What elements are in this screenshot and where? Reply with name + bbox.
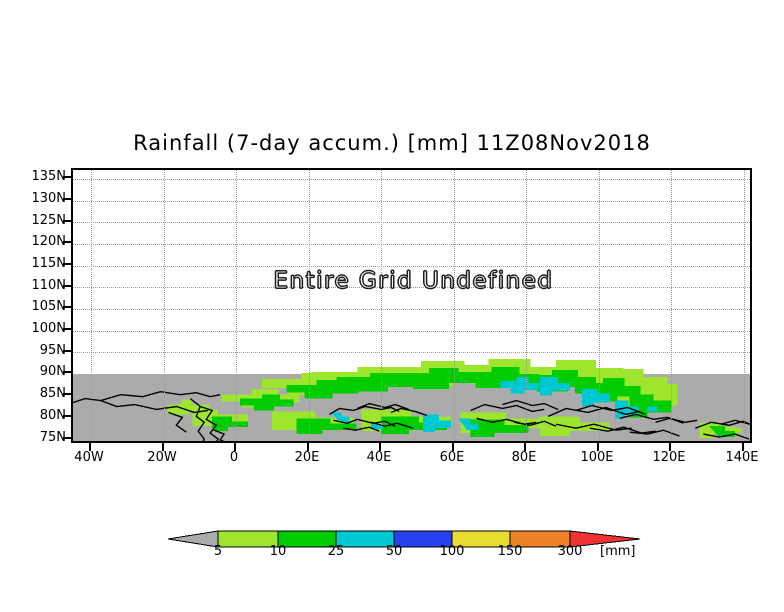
colorbar-tick-label: 25 bbox=[306, 544, 366, 559]
colorbar-tick-label: 150 bbox=[480, 544, 540, 559]
x-axis-label: 20E bbox=[272, 450, 342, 465]
gridline-horizontal bbox=[73, 179, 750, 180]
gridline-horizontal bbox=[73, 244, 750, 245]
gridline-vertical bbox=[744, 170, 745, 441]
gridline-horizontal bbox=[73, 222, 750, 223]
x-axis-label: 140E bbox=[707, 450, 777, 465]
gridline-vertical bbox=[236, 170, 237, 441]
gridline-vertical bbox=[91, 170, 92, 441]
y-axis-label: 100N bbox=[6, 322, 66, 335]
y-axis-label: 125N bbox=[6, 214, 66, 227]
x-axis-label: 40E bbox=[344, 450, 414, 465]
colorbar-tick-label: 50 bbox=[364, 544, 424, 559]
y-axis-label: 130N bbox=[6, 192, 66, 205]
x-axis-label: 40W bbox=[54, 450, 124, 465]
gridline-horizontal bbox=[73, 287, 750, 288]
y-axis-label: 85N bbox=[6, 387, 66, 400]
x-axis-label: 100E bbox=[562, 450, 632, 465]
x-axis-label: 80E bbox=[489, 450, 559, 465]
y-axis-label: 95N bbox=[6, 344, 66, 357]
y-axis-label: 80N bbox=[6, 409, 66, 422]
gridline-vertical bbox=[164, 170, 165, 441]
y-axis-label: 120N bbox=[6, 235, 66, 248]
y-axis-label: 110N bbox=[6, 279, 66, 292]
x-axis-label: 120E bbox=[634, 450, 704, 465]
y-axis-label: 135N bbox=[6, 170, 66, 183]
colorbar-tick-label: 10 bbox=[248, 544, 308, 559]
y-axis-label: 90N bbox=[6, 365, 66, 378]
colorbar-tick-label: 5 bbox=[188, 544, 248, 559]
map-plot-area: Entire Grid Undefined bbox=[71, 168, 752, 443]
gridline-vertical bbox=[381, 170, 382, 441]
colorbar-tick-label: 100 bbox=[422, 544, 482, 559]
gridline-vertical bbox=[454, 170, 455, 441]
colorbar-tick-label: 300 bbox=[540, 544, 600, 559]
x-axis-label: 0 bbox=[199, 450, 269, 465]
gridline-vertical bbox=[671, 170, 672, 441]
gridline-horizontal bbox=[73, 352, 750, 353]
y-axis-label: 115N bbox=[6, 257, 66, 270]
gridline-horizontal bbox=[73, 266, 750, 267]
gridline-vertical bbox=[309, 170, 310, 441]
gridline-horizontal bbox=[73, 309, 750, 310]
gridline-horizontal bbox=[73, 331, 750, 332]
x-axis-label: 20W bbox=[127, 450, 197, 465]
gridline-vertical bbox=[526, 170, 527, 441]
gridline-vertical bbox=[599, 170, 600, 441]
colorbar-unit-label: [mm] bbox=[600, 544, 635, 559]
x-axis-label: 60E bbox=[417, 450, 487, 465]
gridline-horizontal bbox=[73, 201, 750, 202]
y-axis-label: 75N bbox=[6, 431, 66, 444]
y-axis-label: 105N bbox=[6, 300, 66, 313]
coastline-overlay bbox=[73, 170, 750, 441]
page-title: Rainfall (7-day accum.) [mm] 11Z08Nov201… bbox=[0, 131, 784, 155]
